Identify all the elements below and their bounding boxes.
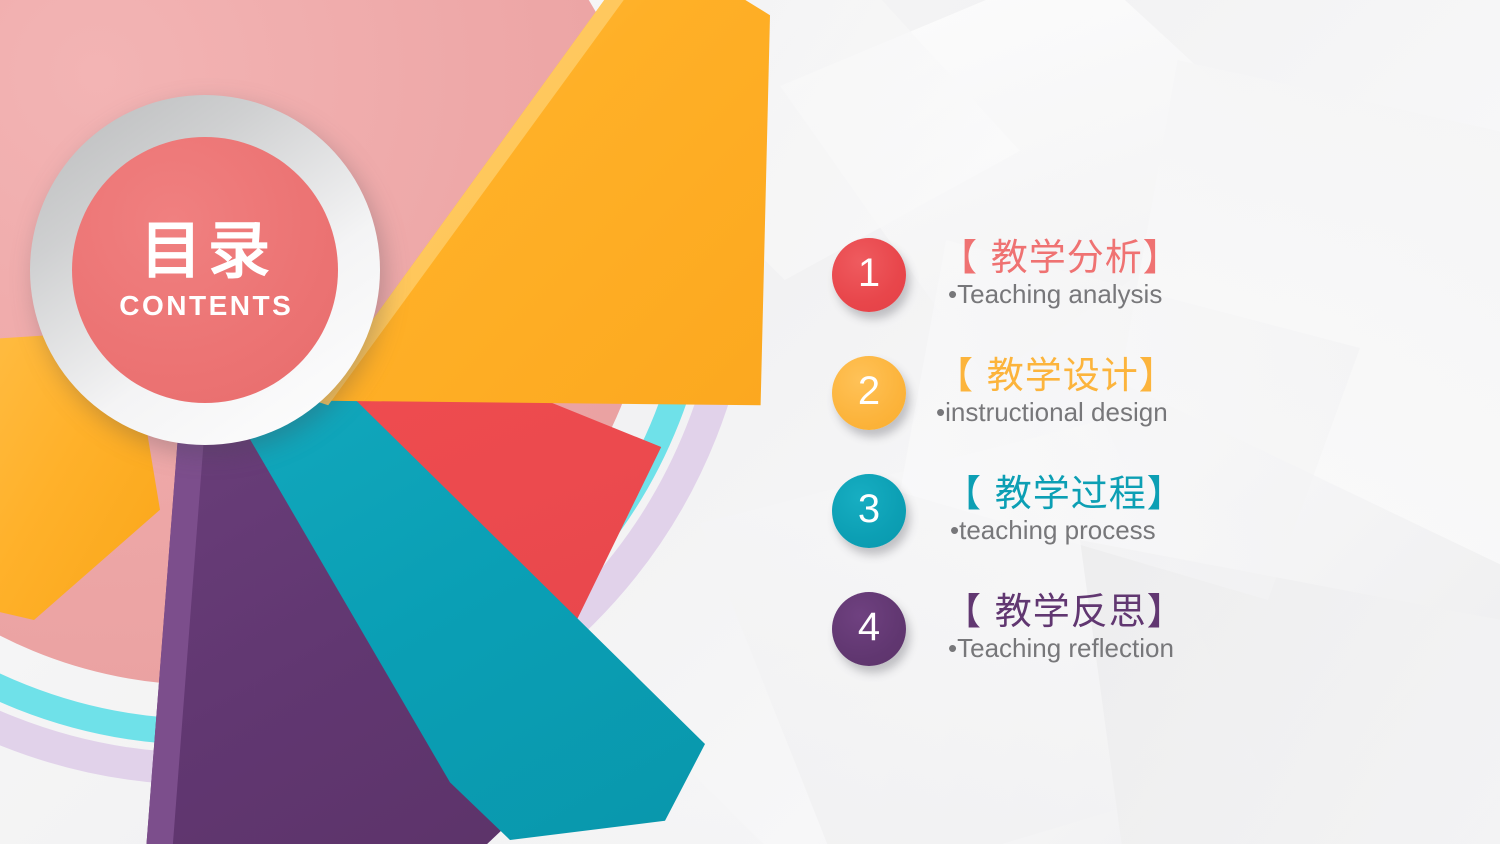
item-number-4: 4: [858, 605, 880, 650]
item-text-block-3: 【 教学过程】 •teaching process: [944, 472, 1185, 546]
item-subtitle-3: •teaching process: [944, 515, 1185, 546]
contents-item-1[interactable]: 1 【 教学分析】 •Teaching analysis: [832, 238, 1452, 356]
item-number-badge-4: 4: [832, 592, 906, 666]
item-title-3: 【 教学过程】: [944, 472, 1185, 516]
item-title-2: 【 教学设计】: [936, 354, 1177, 398]
item-number-badge-3: 3: [832, 474, 906, 548]
item-text-block-1: 【 教学分析】 •Teaching analysis: [940, 236, 1181, 310]
item-number-1: 1: [858, 251, 880, 296]
item-number-badge-1: 1: [832, 238, 906, 312]
item-number-2: 2: [858, 369, 880, 414]
item-subtitle-2: •instructional design: [936, 397, 1177, 428]
item-title-1: 【 教学分析】: [940, 236, 1181, 280]
contents-item-2[interactable]: 2 【 教学设计】 •instructional design: [832, 356, 1452, 474]
item-text-block-2: 【 教学设计】 •instructional design: [936, 354, 1177, 428]
contents-badge: 目录 CONTENTS: [30, 95, 380, 445]
contents-list: 1 【 教学分析】 •Teaching analysis 2 【 教学设计】 •…: [832, 238, 1452, 710]
item-number-badge-2: 2: [832, 356, 906, 430]
item-text-block-4: 【 教学反思】 •Teaching reflection: [944, 590, 1185, 664]
contents-item-4[interactable]: 4 【 教学反思】 •Teaching reflection: [832, 592, 1452, 710]
item-number-3: 3: [858, 487, 880, 532]
item-subtitle-1: •Teaching analysis: [940, 279, 1181, 310]
item-subtitle-4: •Teaching reflection: [944, 633, 1185, 664]
item-title-4: 【 教学反思】: [944, 590, 1185, 634]
contents-item-3[interactable]: 3 【 教学过程】 •teaching process: [832, 474, 1452, 592]
badge-inner-circle: 目录 CONTENTS: [72, 137, 338, 403]
badge-title-cn: 目录: [134, 218, 276, 283]
slide-canvas: 目录 CONTENTS 1 【 教学分析】 •Teaching analysis…: [0, 0, 1500, 844]
badge-title-en: CONTENTS: [117, 290, 294, 322]
